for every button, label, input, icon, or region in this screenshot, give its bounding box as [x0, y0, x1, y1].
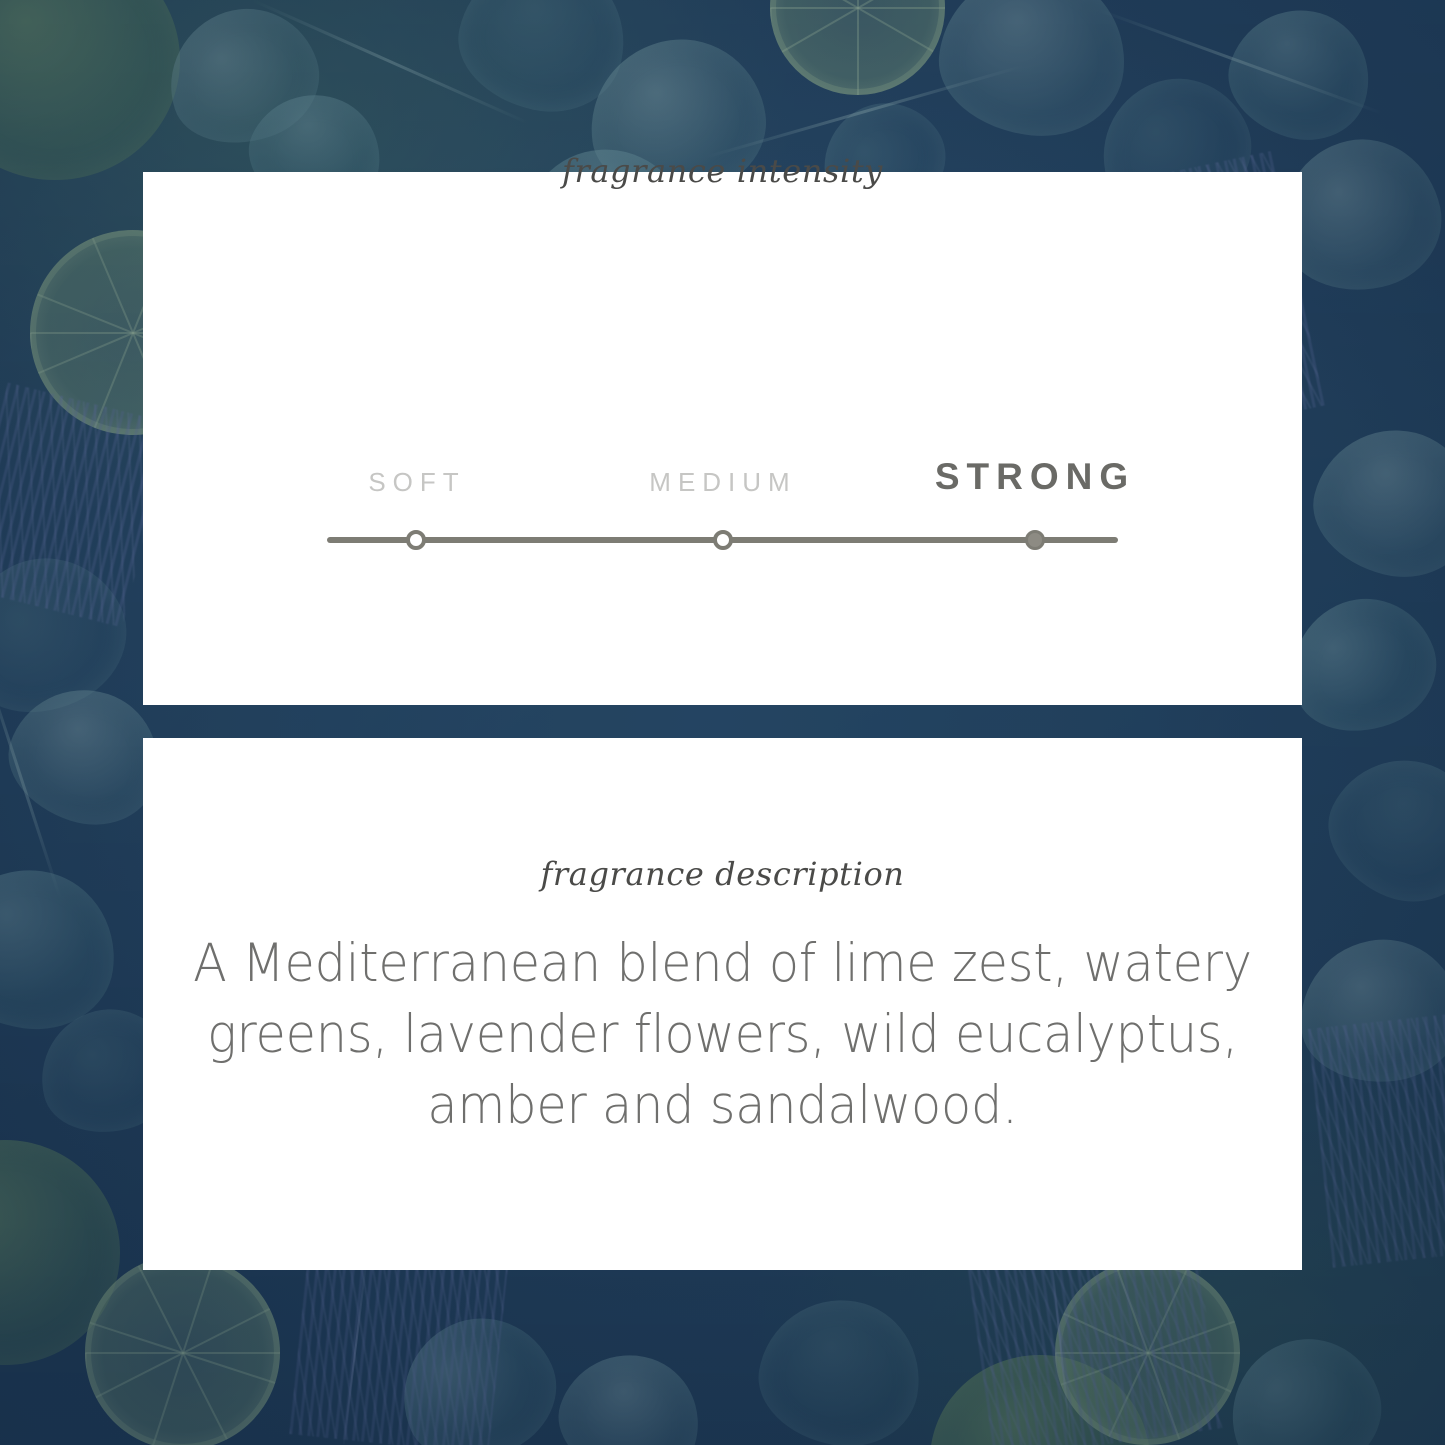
product-detail-panel: fragrance intensity SOFT MEDIUM STRONG f… — [0, 0, 1445, 1445]
intensity-dot-strong[interactable] — [1025, 530, 1045, 550]
fragrance-description-title: fragrance description — [0, 858, 1445, 890]
intensity-slider[interactable] — [327, 525, 1118, 555]
intensity-label-soft[interactable]: SOFT — [368, 467, 465, 498]
intensity-label-medium[interactable]: MEDIUM — [649, 467, 796, 498]
intensity-dot-soft[interactable] — [406, 530, 426, 550]
intensity-dot-medium[interactable] — [713, 530, 733, 550]
fragrance-description-text: A Mediterranean blend of lime zest, wate… — [153, 928, 1292, 1141]
intensity-label-strong[interactable]: STRONG — [935, 456, 1135, 498]
fragrance-intensity-title: fragrance intensity — [0, 155, 1445, 187]
intensity-scale-labels: SOFT MEDIUM STRONG — [0, 438, 1445, 498]
